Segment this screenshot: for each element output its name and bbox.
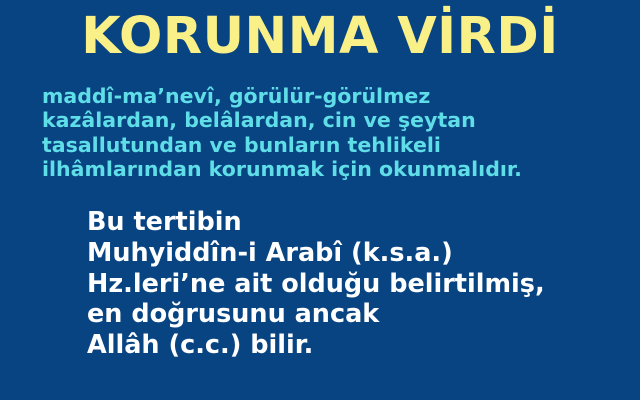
slide-canvas: KORUNMA VİRDİ maddî-ma’nevî, görülür-gör… bbox=[0, 0, 640, 400]
attribution-line-1: Bu tertibin bbox=[87, 207, 627, 238]
description-line-3: tasallutundan ve bunların tehlikeli bbox=[42, 133, 622, 157]
attribution-block: Bu tertibin Muhyiddîn-i Arabî (k.s.a.) H… bbox=[87, 207, 627, 361]
attribution-line-5: Allâh (c.c.) bilir. bbox=[87, 330, 627, 361]
description-line-1: maddî-ma’nevî, görülür-görülmez bbox=[42, 84, 622, 108]
attribution-line-3: Hz.leri’ne ait olduğu belirtilmiş, bbox=[87, 269, 627, 300]
description-line-2: kazâlardan, belâlardan, cin ve şeytan bbox=[42, 108, 622, 132]
description-paragraph: maddî-ma’nevî, görülür-görülmez kazâlard… bbox=[42, 84, 622, 182]
description-line-4: ilhâmlarından korunmak için okunmalıdır. bbox=[42, 157, 622, 181]
attribution-line-4: en doğrusunu ancak bbox=[87, 299, 627, 330]
attribution-line-2: Muhyiddîn-i Arabî (k.s.a.) bbox=[87, 238, 627, 269]
page-title: KORUNMA VİRDİ bbox=[0, 8, 640, 66]
